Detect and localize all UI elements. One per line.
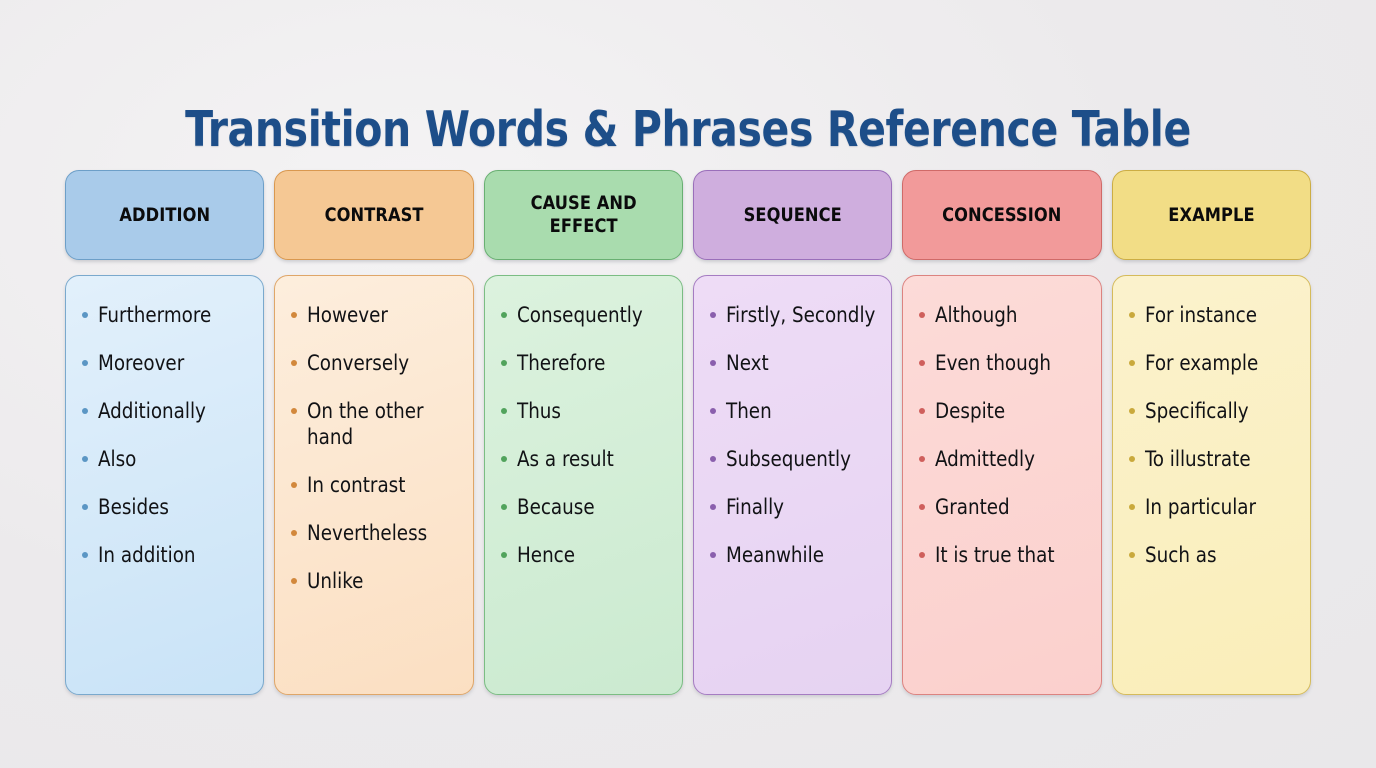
list-item[interactable]: Despite bbox=[917, 398, 1090, 424]
list-item[interactable]: Then bbox=[708, 398, 881, 424]
list-item[interactable]: Also bbox=[80, 446, 253, 472]
bullet-icon bbox=[1129, 552, 1135, 558]
list-item-label: Consequently bbox=[517, 302, 643, 328]
list-item-label: Additionally bbox=[98, 398, 206, 424]
bullet-icon bbox=[82, 360, 88, 366]
list-item-label: Hence bbox=[517, 542, 575, 568]
list-item[interactable]: For instance bbox=[1127, 302, 1300, 328]
bullet-icon bbox=[82, 408, 88, 414]
list-item-label: Meanwhile bbox=[726, 542, 824, 568]
list-item[interactable]: Subsequently bbox=[708, 446, 881, 472]
list-item[interactable]: Even though bbox=[917, 350, 1090, 376]
list-item-label: Nevertheless bbox=[307, 520, 427, 546]
bullet-icon bbox=[1129, 360, 1135, 366]
category-header-sequence[interactable]: SEQUENCE bbox=[693, 170, 892, 260]
bullet-icon bbox=[501, 552, 507, 558]
list-item[interactable]: Meanwhile bbox=[708, 542, 881, 568]
category-column-sequence: SEQUENCEFirstly, SecondlyNextThenSubsequ… bbox=[693, 170, 892, 695]
bullet-icon bbox=[291, 578, 297, 584]
category-body-cause-and-effect: ConsequentlyThereforeThusAs a resultBeca… bbox=[484, 275, 683, 695]
list-item-label: It is true that bbox=[935, 542, 1055, 568]
list-item[interactable]: In particular bbox=[1127, 494, 1300, 520]
list-item[interactable]: Such as bbox=[1127, 542, 1300, 568]
category-body-concession: AlthoughEven thoughDespiteAdmittedlyGran… bbox=[902, 275, 1101, 695]
list-item[interactable]: Conversely bbox=[289, 350, 462, 376]
bullet-icon bbox=[291, 408, 297, 414]
category-header-label: CONCESSION bbox=[942, 204, 1061, 227]
bullet-icon bbox=[919, 408, 925, 414]
bullet-icon bbox=[82, 456, 88, 462]
category-header-label: EXAMPLE bbox=[1168, 204, 1254, 227]
bullet-icon bbox=[710, 456, 716, 462]
list-item-label: Admittedly bbox=[935, 446, 1035, 472]
page-title: Transition Words & Phrases Reference Tab… bbox=[48, 101, 1328, 159]
bullet-icon bbox=[501, 312, 507, 318]
list-item[interactable]: Besides bbox=[80, 494, 253, 520]
bullet-icon bbox=[501, 408, 507, 414]
list-item-label: Finally bbox=[726, 494, 784, 520]
bullet-icon bbox=[710, 552, 716, 558]
list-item[interactable]: To illustrate bbox=[1127, 446, 1300, 472]
list-item-label: Conversely bbox=[307, 350, 409, 376]
category-header-contrast[interactable]: CONTRAST bbox=[274, 170, 473, 260]
category-header-label: CONTRAST bbox=[324, 204, 423, 227]
bullet-icon bbox=[501, 360, 507, 366]
list-item-label: As a result bbox=[517, 446, 614, 472]
list-item-label: To illustrate bbox=[1145, 446, 1251, 472]
bullet-icon bbox=[919, 312, 925, 318]
list-item-label: Even though bbox=[935, 350, 1051, 376]
list-item-label: Thus bbox=[517, 398, 561, 424]
bullet-icon bbox=[710, 360, 716, 366]
bullet-icon bbox=[710, 408, 716, 414]
bullet-icon bbox=[919, 456, 925, 462]
bullet-icon bbox=[919, 360, 925, 366]
bullet-icon bbox=[82, 552, 88, 558]
category-header-label: SEQUENCE bbox=[744, 204, 842, 227]
list-item[interactable]: Consequently bbox=[499, 302, 672, 328]
list-item[interactable]: On the other hand bbox=[289, 398, 462, 450]
list-item[interactable]: Moreover bbox=[80, 350, 253, 376]
category-body-contrast: HoweverConverselyOn the other handIn con… bbox=[274, 275, 473, 695]
bullet-icon bbox=[710, 312, 716, 318]
list-item[interactable]: Thus bbox=[499, 398, 672, 424]
bullet-icon bbox=[919, 552, 925, 558]
bullet-icon bbox=[1129, 504, 1135, 510]
list-item[interactable]: Additionally bbox=[80, 398, 253, 424]
list-item-label: Moreover bbox=[98, 350, 184, 376]
list-item-label: Unlike bbox=[307, 568, 363, 594]
list-item[interactable]: Nevertheless bbox=[289, 520, 462, 546]
list-item[interactable]: Because bbox=[499, 494, 672, 520]
category-column-example: EXAMPLEFor instanceFor exampleSpecifical… bbox=[1112, 170, 1311, 695]
list-item[interactable]: Although bbox=[917, 302, 1090, 328]
bullet-icon bbox=[710, 504, 716, 510]
list-item-label: Therefore bbox=[517, 350, 605, 376]
bullet-icon bbox=[291, 530, 297, 536]
category-header-addition[interactable]: ADDITION bbox=[65, 170, 264, 260]
list-item-label: Next bbox=[726, 350, 769, 376]
list-item-label: Subsequently bbox=[726, 446, 851, 472]
list-item-label: Firstly, Secondly bbox=[726, 302, 875, 328]
bullet-icon bbox=[291, 482, 297, 488]
category-column-cause-and-effect: CAUSE AND EFFECTConsequentlyThereforeThu… bbox=[484, 170, 683, 695]
list-item[interactable]: Specifically bbox=[1127, 398, 1300, 424]
bullet-icon bbox=[501, 456, 507, 462]
bullet-icon bbox=[1129, 312, 1135, 318]
list-item[interactable]: Hence bbox=[499, 542, 672, 568]
bullet-icon bbox=[919, 504, 925, 510]
list-item[interactable]: In addition bbox=[80, 542, 253, 568]
bullet-icon bbox=[501, 504, 507, 510]
list-item-label: Besides bbox=[98, 494, 169, 520]
category-header-cause-and-effect[interactable]: CAUSE AND EFFECT bbox=[484, 170, 683, 260]
list-item-label: However bbox=[307, 302, 388, 328]
list-item[interactable]: It is true that bbox=[917, 542, 1090, 568]
category-column-concession: CONCESSIONAlthoughEven thoughDespiteAdmi… bbox=[902, 170, 1101, 695]
list-item[interactable]: Firstly, Secondly bbox=[708, 302, 881, 328]
list-item[interactable]: In contrast bbox=[289, 472, 462, 498]
list-item-label: In addition bbox=[98, 542, 196, 568]
list-item-label: For example bbox=[1145, 350, 1258, 376]
list-item[interactable]: Next bbox=[708, 350, 881, 376]
list-item[interactable]: However bbox=[289, 302, 462, 328]
list-item[interactable]: Granted bbox=[917, 494, 1090, 520]
list-item-label: Furthermore bbox=[98, 302, 211, 328]
list-item[interactable]: Therefore bbox=[499, 350, 672, 376]
bullet-icon bbox=[82, 312, 88, 318]
category-column-contrast: CONTRASTHoweverConverselyOn the other ha… bbox=[274, 170, 473, 695]
category-body-sequence: Firstly, SecondlyNextThenSubsequentlyFin… bbox=[693, 275, 892, 695]
list-item-label: Granted bbox=[935, 494, 1010, 520]
list-item-label: For instance bbox=[1145, 302, 1257, 328]
category-header-concession[interactable]: CONCESSION bbox=[902, 170, 1101, 260]
list-item-label: Because bbox=[517, 494, 595, 520]
category-header-example[interactable]: EXAMPLE bbox=[1112, 170, 1311, 260]
list-item-label: On the other hand bbox=[307, 398, 458, 450]
bullet-icon bbox=[1129, 456, 1135, 462]
bullet-icon bbox=[82, 504, 88, 510]
category-header-label: CAUSE AND EFFECT bbox=[497, 192, 669, 238]
category-body-example: For instanceFor exampleSpecificallyTo il… bbox=[1112, 275, 1311, 695]
bullet-icon bbox=[1129, 408, 1135, 414]
bullet-icon bbox=[291, 312, 297, 318]
category-column-addition: ADDITIONFurthermoreMoreoverAdditionallyA… bbox=[65, 170, 264, 695]
list-item[interactable]: Furthermore bbox=[80, 302, 253, 328]
list-item-label: Despite bbox=[935, 398, 1005, 424]
list-item-label: Although bbox=[935, 302, 1018, 328]
list-item-label: Then bbox=[726, 398, 772, 424]
list-item-label: Specifically bbox=[1145, 398, 1249, 424]
list-item[interactable]: As a result bbox=[499, 446, 672, 472]
list-item[interactable]: Finally bbox=[708, 494, 881, 520]
list-item[interactable]: For example bbox=[1127, 350, 1300, 376]
list-item-label: Such as bbox=[1145, 542, 1217, 568]
list-item-label: In particular bbox=[1145, 494, 1256, 520]
list-item-label: Also bbox=[98, 446, 136, 472]
transition-words-table: ADDITIONFurthermoreMoreoverAdditionallyA… bbox=[65, 170, 1311, 695]
bullet-icon bbox=[291, 360, 297, 366]
list-item-label: In contrast bbox=[307, 472, 405, 498]
list-item[interactable]: Unlike bbox=[289, 568, 462, 594]
reference-table-page: Transition Words & Phrases Reference Tab… bbox=[0, 0, 1376, 768]
list-item[interactable]: Admittedly bbox=[917, 446, 1090, 472]
category-header-label: ADDITION bbox=[119, 204, 210, 227]
category-body-addition: FurthermoreMoreoverAdditionallyAlsoBesid… bbox=[65, 275, 264, 695]
